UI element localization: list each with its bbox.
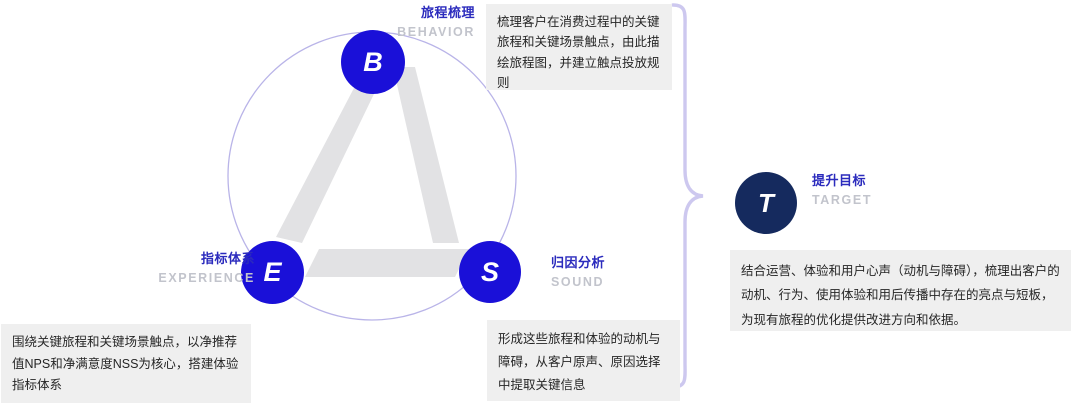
label-title-b: 旅程梳理 bbox=[330, 6, 475, 20]
label-title-s: 归因分析 bbox=[551, 256, 711, 270]
description-box-t: 结合运营、体验和用户心声（动机与障碍），梳理出客户的动机、行为、使用体验和用后传… bbox=[730, 250, 1071, 331]
label-block-t: 提升目标 TARGET bbox=[812, 174, 992, 208]
label-block-b: 旅程梳理 BEHAVIOR bbox=[330, 6, 475, 40]
label-subtitle-b: BEHAVIOR bbox=[330, 26, 475, 40]
description-box-s: 形成这些旅程和体验的动机与障碍，从客户原声、原因选择中提取关键信息 bbox=[487, 320, 680, 401]
description-box-e: 围绕关键旅程和关键场景触点，以净推荐值NPS和净满意度NSS为核心，搭建体验指标… bbox=[1, 324, 251, 403]
label-title-t: 提升目标 bbox=[812, 174, 992, 188]
label-block-s: 归因分析 SOUND bbox=[551, 256, 711, 290]
node-circle-t[interactable]: T bbox=[735, 172, 797, 234]
node-letter-t: T bbox=[758, 190, 774, 216]
diagram-canvas: B E S T 旅程梳理 BEHAVIOR 指标体系 EXPERIENCE 归因… bbox=[0, 0, 1080, 405]
label-subtitle-e: EXPERIENCE bbox=[110, 272, 255, 286]
node-letter-e: E bbox=[263, 259, 281, 286]
label-subtitle-s: SOUND bbox=[551, 276, 711, 290]
description-box-b: 梳理客户在消费过程中的关键旅程和关键场景触点，由此描绘旅程图，并建立触点投放规则 bbox=[486, 4, 672, 90]
triangle-glyph bbox=[276, 67, 469, 277]
label-title-e: 指标体系 bbox=[110, 252, 255, 266]
node-letter-s: S bbox=[481, 259, 499, 286]
node-letter-b: B bbox=[363, 49, 383, 76]
node-circle-s[interactable]: S bbox=[459, 241, 521, 303]
label-subtitle-t: TARGET bbox=[812, 194, 992, 208]
label-block-e: 指标体系 EXPERIENCE bbox=[110, 252, 255, 286]
